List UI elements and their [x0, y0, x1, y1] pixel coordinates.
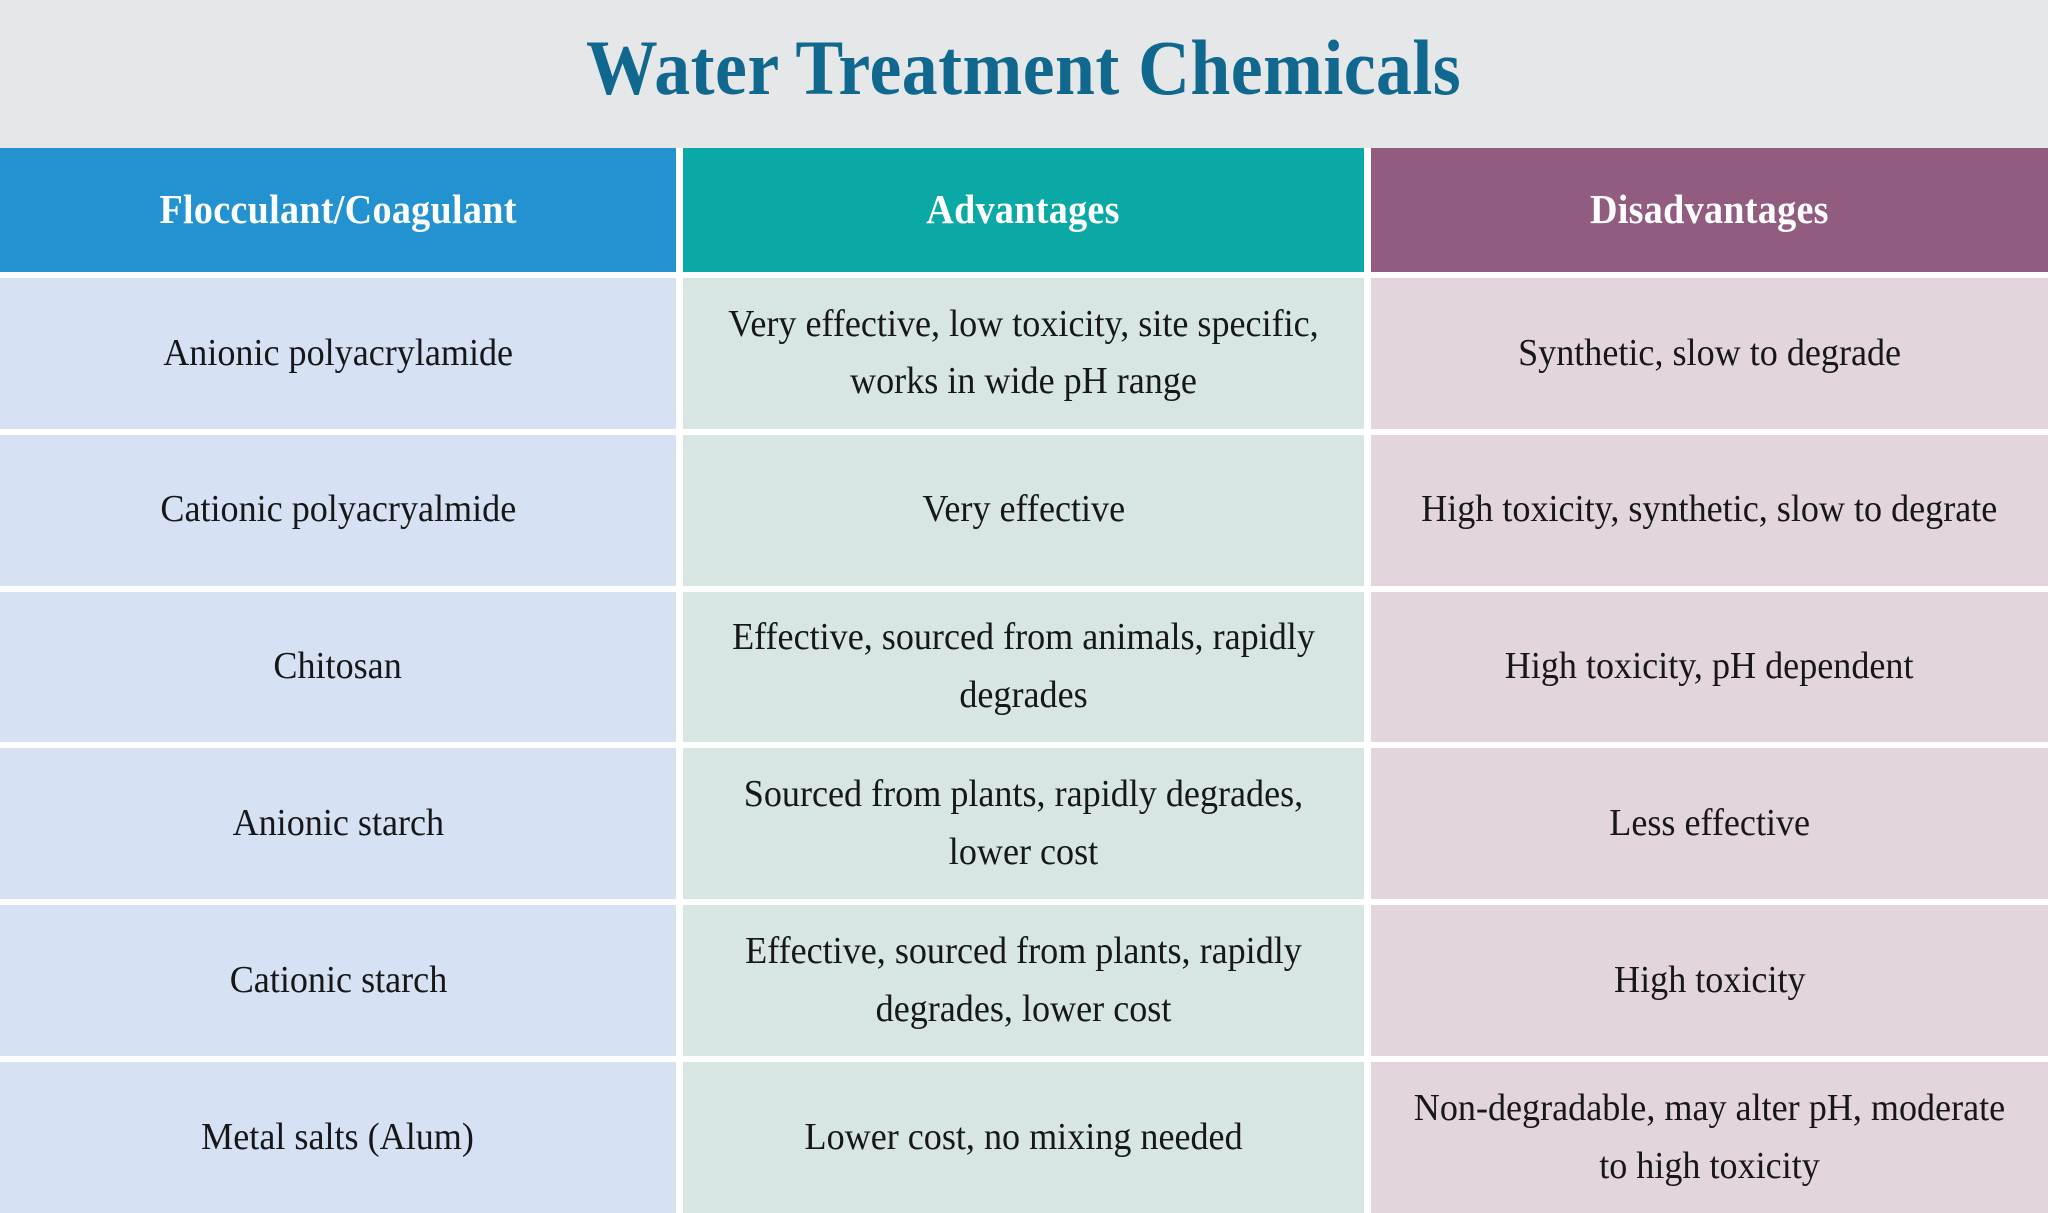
cell-flocculant-text: Chitosan — [274, 638, 402, 696]
cell-advantages-text: Sourced from plants, rapidly degrades, l… — [721, 766, 1326, 882]
cell-advantages-text: Effective, sourced from animals, rapidly… — [721, 609, 1326, 725]
cell-flocculant: Anionic starch — [0, 748, 676, 899]
table-row: Cationic polyacryalmide Very effective H… — [0, 435, 2048, 586]
table-row: Chitosan Effective, sourced from animals… — [0, 592, 2048, 743]
column-header-advantages-label: Advantages — [927, 187, 1120, 232]
cell-advantages: Lower cost, no mixing needed — [683, 1062, 1364, 1213]
cell-flocculant: Cationic polyacryalmide — [0, 435, 676, 586]
cell-advantages: Very effective — [683, 435, 1364, 586]
cell-advantages: Very effective, low toxicity, site speci… — [683, 278, 1364, 429]
cell-flocculant-text: Anionic polyacrylamide — [163, 325, 513, 383]
cell-advantages-text: Lower cost, no mixing needed — [804, 1109, 1242, 1167]
cell-advantages: Effective, sourced from plants, rapidly … — [683, 905, 1364, 1056]
cell-advantages: Sourced from plants, rapidly degrades, l… — [683, 748, 1364, 899]
table-row: Anionic starch Sourced from plants, rapi… — [0, 748, 2048, 899]
column-header-disadvantages: Disadvantages — [1371, 148, 2048, 272]
cell-flocculant: Chitosan — [0, 592, 676, 743]
cell-disadvantages-text: Less effective — [1609, 795, 1810, 853]
column-header-flocculant: Flocculant/Coagulant — [0, 148, 676, 272]
cell-flocculant-text: Cationic starch — [229, 952, 447, 1010]
column-header-flocculant-label: Flocculant/Coagulant — [159, 187, 516, 232]
column-header-disadvantages-label: Disadvantages — [1590, 187, 1829, 232]
cell-disadvantages-text: Synthetic, slow to degrade — [1518, 325, 1901, 383]
cell-advantages-text: Effective, sourced from plants, rapidly … — [721, 923, 1326, 1039]
cell-advantages: Effective, sourced from animals, rapidly… — [683, 592, 1364, 743]
page-title: Water Treatment Chemicals — [586, 29, 1461, 107]
cell-disadvantages: High toxicity, synthetic, slow to degrat… — [1371, 435, 2048, 586]
cell-advantages-text: Very effective — [922, 481, 1125, 539]
cell-flocculant: Anionic polyacrylamide — [0, 278, 676, 429]
cell-disadvantages-text: High toxicity, synthetic, slow to degrat… — [1421, 481, 1997, 539]
table-row: Anionic polyacrylamide Very effective, l… — [0, 278, 2048, 429]
cell-flocculant: Metal salts (Alum) — [0, 1062, 676, 1213]
page-root: Water Treatment Chemicals Flocculant/Coa… — [0, 0, 2048, 1213]
cell-disadvantages: Less effective — [1371, 748, 2048, 899]
cell-disadvantages: High toxicity, pH dependent — [1371, 592, 2048, 743]
cell-disadvantages-text: High toxicity, pH dependent — [1505, 638, 1914, 696]
cell-flocculant-text: Metal salts (Alum) — [202, 1109, 475, 1167]
cell-flocculant-text: Cationic polyacryalmide — [160, 481, 516, 539]
comparison-table: Flocculant/Coagulant Advantages Disadvan… — [0, 148, 2048, 1213]
cell-disadvantages-text: Non-degradable, may alter pH, moderate t… — [1409, 1080, 2010, 1196]
cell-disadvantages-text: High toxicity — [1614, 952, 1806, 1010]
cell-advantages-text: Very effective, low toxicity, site speci… — [721, 296, 1326, 412]
column-header-advantages: Advantages — [683, 148, 1364, 272]
table-row: Metal salts (Alum) Lower cost, no mixing… — [0, 1062, 2048, 1213]
title-banner: Water Treatment Chemicals — [0, 0, 2048, 148]
table-header-row: Flocculant/Coagulant Advantages Disadvan… — [0, 148, 2048, 272]
cell-disadvantages: High toxicity — [1371, 905, 2048, 1056]
cell-disadvantages: Non-degradable, may alter pH, moderate t… — [1371, 1062, 2048, 1213]
cell-disadvantages: Synthetic, slow to degrade — [1371, 278, 2048, 429]
table-row: Cationic starch Effective, sourced from … — [0, 905, 2048, 1056]
cell-flocculant: Cationic starch — [0, 905, 676, 1056]
cell-flocculant-text: Anionic starch — [232, 795, 444, 853]
